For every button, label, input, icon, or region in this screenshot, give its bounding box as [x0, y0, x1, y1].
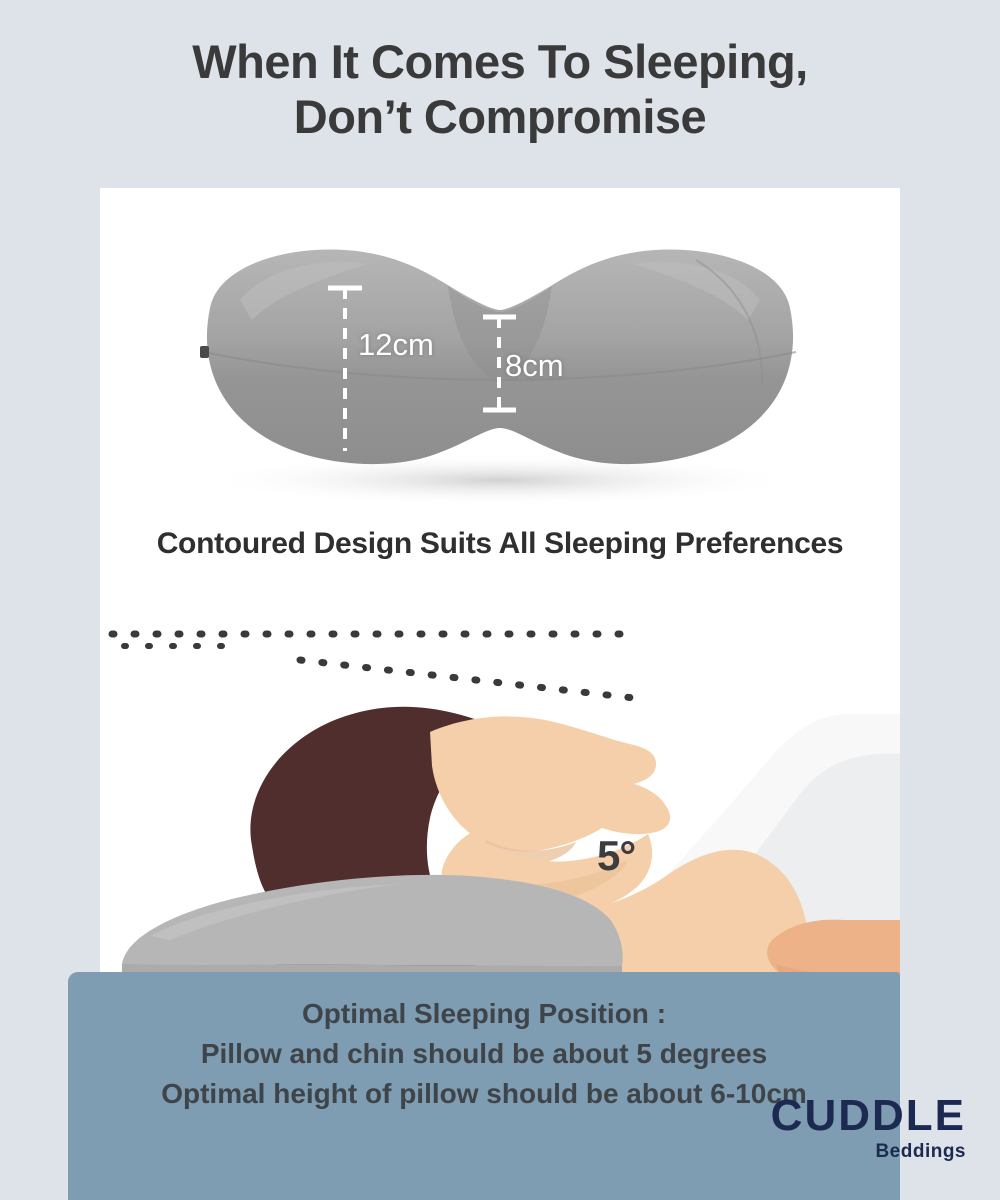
- info-line-2: Pillow and chin should be about 5 degree…: [68, 1034, 900, 1074]
- section-caption: Contoured Design Suits All Sleeping Pref…: [100, 527, 900, 561]
- brand-logo-wordmark: CUDDLE: [770, 1094, 966, 1138]
- sleeper-svg: [100, 588, 900, 976]
- product-photo: 12cm 8cm: [100, 188, 900, 518]
- info-panel: Optimal Sleeping Position : Pillow and c…: [68, 972, 900, 1200]
- headline-line-1: When It Comes To Sleeping,: [192, 35, 807, 88]
- brand-logo: CUDDLE Beddings: [770, 1094, 966, 1163]
- page-title: When It Comes To Sleeping, Don’t Comprom…: [0, 34, 1000, 145]
- headline-line-2: Don’t Compromise: [0, 89, 1000, 144]
- dimension-label-8cm: 8cm: [505, 348, 564, 384]
- content-card: 12cm 8cm Contoured Design Suits All Slee…: [100, 188, 900, 976]
- sleeping-position-illustration: 5°: [100, 588, 900, 976]
- dotted-angle-line: [300, 660, 634, 698]
- pillow-shadow: [200, 454, 800, 506]
- dimension-label-12cm: 12cm: [358, 327, 434, 363]
- brand-logo-subtitle: Beddings: [770, 1141, 966, 1163]
- infographic-page: When It Comes To Sleeping, Don’t Comprom…: [0, 0, 1000, 1200]
- angle-label: 5°: [597, 832, 635, 880]
- pillow-tag: [200, 346, 209, 358]
- info-line-1: Optimal Sleeping Position :: [68, 994, 900, 1034]
- pillow-illustration-svg: [100, 188, 900, 518]
